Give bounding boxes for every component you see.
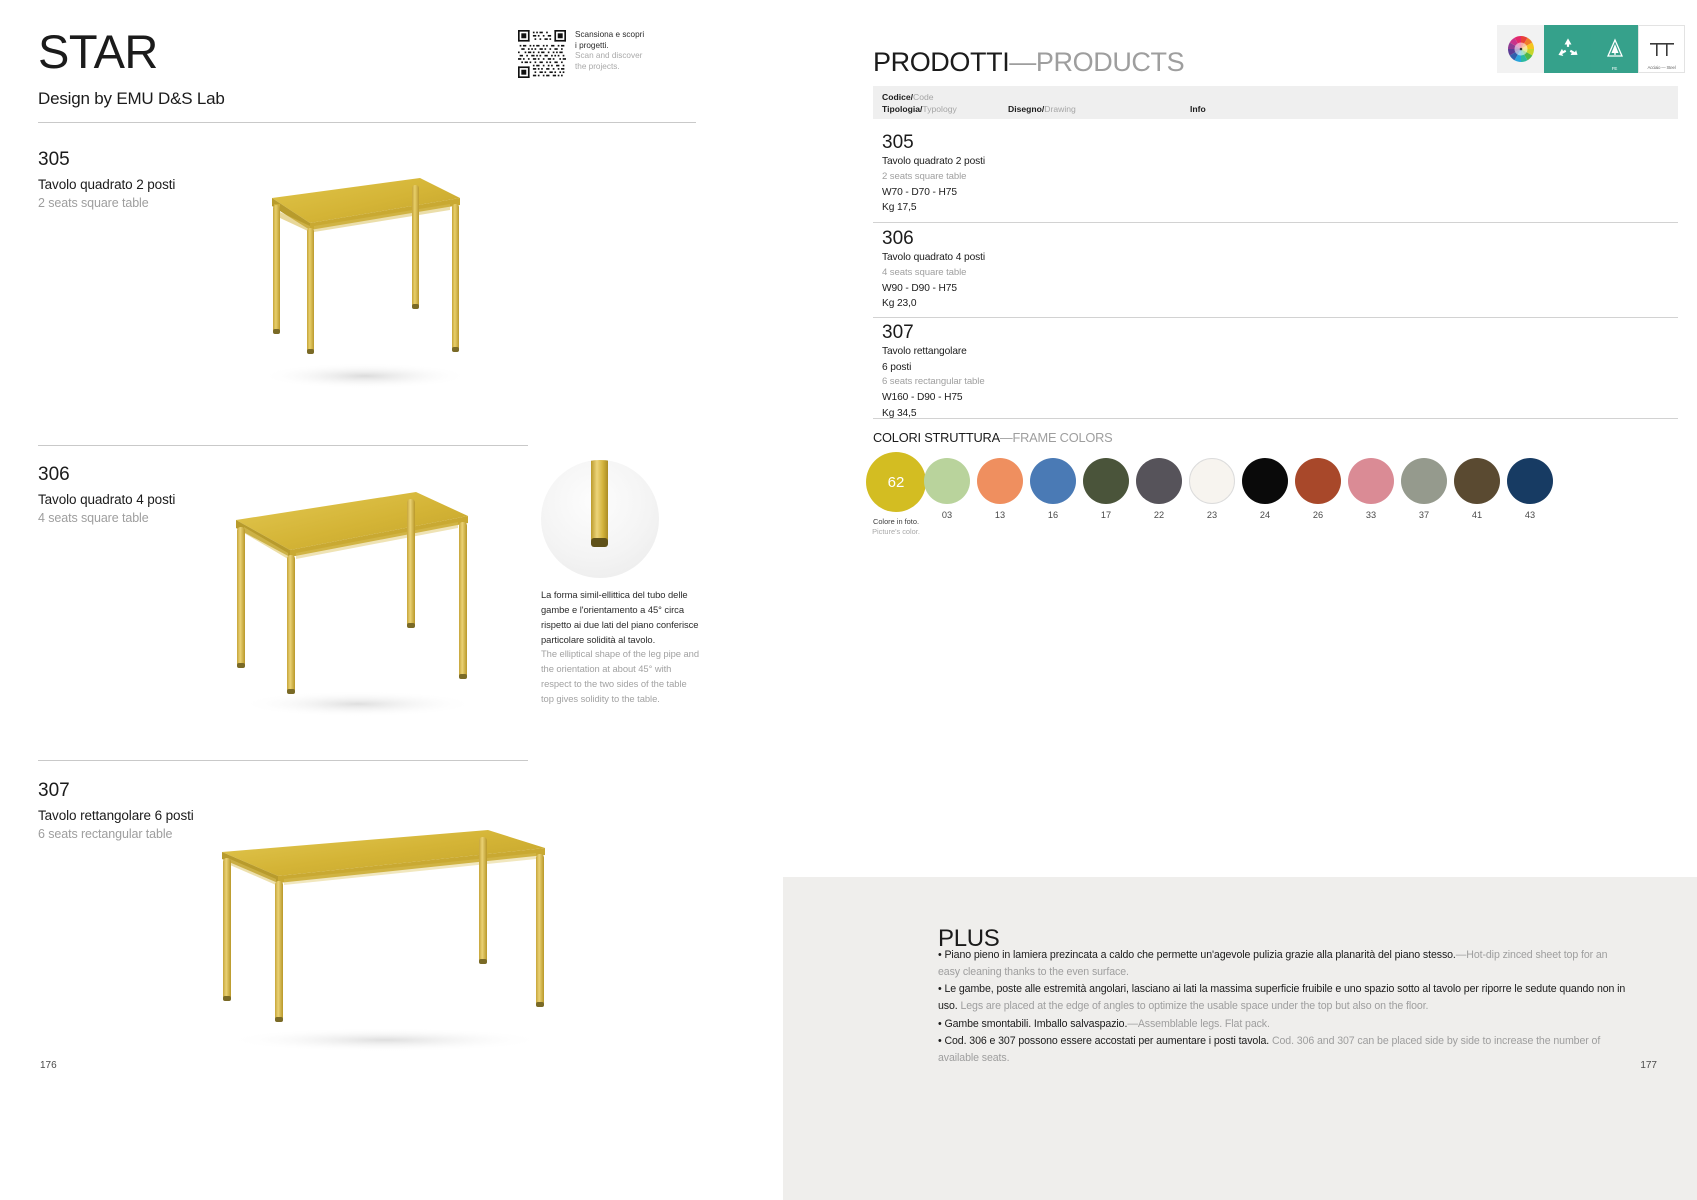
badge-steel: Acciaio — Steel	[1638, 25, 1685, 73]
products-table-header	[873, 86, 1678, 119]
badge-steel-caption: Acciaio — Steel	[1639, 65, 1684, 70]
recycle-icon	[1555, 36, 1581, 62]
table-row-306[interactable]: 306 Tavolo quadrato 4 posti 4 seats squa…	[882, 228, 985, 312]
swatch-number: 16	[1048, 510, 1058, 520]
swatch-dot[interactable]	[1083, 458, 1129, 504]
badge-fsc-caption: FE	[1591, 66, 1638, 71]
swatch-number: 17	[1101, 510, 1111, 520]
th-info-key: Info	[1190, 104, 1206, 114]
th-code-typology: Codice/Code Tipologia/Typology	[882, 91, 957, 116]
product-code: 307	[38, 779, 194, 803]
plus-item-it: • Piano pieno in lamiera prezincata a ca…	[938, 949, 1456, 961]
qr-code-icon[interactable]	[518, 30, 566, 78]
left-product-label-307: 307 Tavolo rettangolare 6 posti 6 seats …	[38, 779, 194, 843]
th-typology-value: Typology	[922, 104, 956, 114]
plus-item: • Piano pieno in lamiera prezincata a ca…	[938, 947, 1628, 981]
qr-caption: Scansiona e scopri i progetti. Scan and …	[575, 30, 655, 78]
th-drawing: Disegno/Drawing	[1008, 103, 1076, 115]
plus-item-en: Legs are placed at the edge of angles to…	[960, 1000, 1428, 1012]
swatch-33[interactable]: 33	[1345, 458, 1397, 520]
product-code: 306	[38, 463, 175, 487]
swatch-dot[interactable]	[1348, 458, 1394, 504]
row-code: 307	[882, 322, 985, 344]
th-code-key: Codice/	[882, 92, 913, 102]
row-weight: Kg 17,5	[882, 200, 985, 216]
row-name-en: 4 seats square table	[882, 266, 985, 281]
page-title: STAR	[38, 28, 225, 75]
qr-caption-it-1: Scansiona e scopri	[575, 30, 655, 41]
product-name-it: Tavolo rettangolare 6 posti	[38, 806, 194, 826]
row-name-it: Tavolo quadrato 2 posti	[882, 154, 985, 170]
th-typology-key: Tipologia/	[882, 104, 922, 114]
swatch-03[interactable]: 03	[921, 458, 973, 520]
row-name-en: 6 seats rectangular table	[882, 375, 985, 390]
qr-caption-it-2: i progetti.	[575, 41, 655, 52]
swatch-number: 33	[1366, 510, 1376, 520]
plus-item-dash: —	[1456, 949, 1467, 961]
divider-low	[38, 760, 528, 761]
row-divider-2	[873, 317, 1678, 318]
certification-badges: FE Acciaio — Steel	[1497, 25, 1685, 73]
badge-color-wheel	[1497, 25, 1544, 73]
swatch-number: 41	[1472, 510, 1482, 520]
swatch-dot[interactable]	[1401, 458, 1447, 504]
swatch-26[interactable]: 26	[1292, 458, 1344, 520]
fsc-tree-icon	[1603, 37, 1627, 61]
qr-caption-en-2: the projects.	[575, 62, 655, 73]
divider-mid	[38, 445, 528, 446]
plus-item-en: Assemblable legs. Flat pack.	[1138, 1018, 1270, 1030]
swatch-number: 26	[1313, 510, 1323, 520]
product-name-en: 6 seats rectangular table	[38, 825, 194, 843]
product-name-en: 4 seats square table	[38, 509, 175, 527]
product-photo-307	[200, 820, 570, 1055]
swatch-note-en: Picture's color.	[872, 527, 920, 537]
row-weight: Kg 34,5	[882, 406, 985, 422]
swatch-16[interactable]: 16	[1027, 458, 1079, 520]
row-code: 305	[882, 132, 985, 154]
section-title-it: PRODOTTI	[873, 47, 1009, 77]
title-block: STAR Design by EMU D&S Lab	[38, 28, 225, 109]
leg-detail-photo	[541, 460, 659, 578]
leg-detail-caption: La forma simil-ellittica del tubo delle …	[541, 588, 701, 707]
th-drawing-value: Drawing	[1044, 104, 1076, 114]
section-title-en: PRODUCTS	[1036, 47, 1184, 77]
swatch-13[interactable]: 13	[974, 458, 1026, 520]
row-name-it-line2: 6 posti	[882, 360, 985, 376]
badge-fsc: FE	[1591, 25, 1638, 73]
swatch-number: 37	[1419, 510, 1429, 520]
designer-credit: Design by EMU D&S Lab	[38, 89, 225, 109]
swatch-number: 24	[1260, 510, 1270, 520]
divider-top	[38, 122, 696, 123]
swatch-number: 03	[942, 510, 952, 520]
leg-detail-caption-en: The elliptical shape of the leg pipe and…	[541, 647, 701, 706]
th-info: Info	[1190, 103, 1206, 115]
swatch-dot[interactable]	[1136, 458, 1182, 504]
right-page: PRODOTTI—PRODUCTS	[848, 0, 1697, 1200]
th-code-value: Code	[913, 92, 934, 102]
left-product-label-306: 306 Tavolo quadrato 4 posti 4 seats squa…	[38, 463, 175, 527]
swatch-17[interactable]: 17	[1080, 458, 1132, 520]
frame-colors-title-en: FRAME COLORS	[1013, 430, 1113, 445]
swatch-number: 13	[995, 510, 1005, 520]
row-dimensions: W70 - D70 - H75	[882, 185, 985, 201]
page-number-right: 177	[1640, 1060, 1657, 1071]
row-dimensions: W90 - D90 - H75	[882, 281, 985, 297]
frame-colors-row-1: 62 Colore in foto. Picture's color. 0313…	[870, 452, 1557, 537]
qr-block[interactable]: Scansiona e scopri i progetti. Scan and …	[518, 30, 655, 78]
color-wheel-icon	[1506, 34, 1536, 64]
row-weight: Kg 23,0	[882, 296, 985, 312]
product-name-en: 2 seats square table	[38, 194, 175, 212]
swatch-dot[interactable]	[1189, 458, 1235, 504]
row-name-en: 2 seats square table	[882, 170, 985, 185]
swatch-number: 22	[1154, 510, 1164, 520]
row-dimensions: W160 - D90 - H75	[882, 390, 985, 406]
product-photo-306	[218, 480, 488, 720]
product-name-it: Tavolo quadrato 2 posti	[38, 175, 175, 195]
swatch-number: 43	[1525, 510, 1535, 520]
section-title: PRODOTTI—PRODUCTS	[873, 47, 1184, 78]
plus-item: • Gambe smontabili. Imballo salvaspazio.…	[938, 1016, 1628, 1033]
swatch-note-it: Colore in foto.	[872, 517, 920, 527]
frame-colors-list-1: 031316172223242633374143	[921, 458, 1557, 537]
swatch-37[interactable]: 37	[1398, 458, 1450, 520]
table-row-307[interactable]: 307 Tavolo rettangolare 6 posti 6 seats …	[882, 322, 985, 422]
plus-body: • Piano pieno in lamiera prezincata a ca…	[938, 947, 1628, 1067]
row-divider-1	[873, 222, 1678, 223]
swatch-dot[interactable]	[1454, 458, 1500, 504]
th-drawing-key: Disegno/	[1008, 104, 1044, 114]
plus-item-dash: —	[1127, 1018, 1138, 1030]
swatch-dot[interactable]	[1295, 458, 1341, 504]
table-row-305[interactable]: 305 Tavolo quadrato 2 posti 2 seats squa…	[882, 132, 985, 216]
swatch-dot[interactable]	[924, 458, 970, 504]
plus-item: • Cod. 306 e 307 possono essere accostat…	[938, 1033, 1628, 1067]
section-title-dash: —	[1009, 47, 1036, 77]
product-code: 305	[38, 148, 175, 172]
product-photo-305	[240, 168, 490, 393]
plus-item-it: • Gambe smontabili. Imballo salvaspazio.	[938, 1018, 1127, 1030]
row-code: 306	[882, 228, 985, 250]
swatch-number: 62	[888, 474, 905, 491]
left-page: STAR Design by EMU D&S Lab	[0, 0, 848, 1200]
plus-item-it: • Cod. 306 e 307 possono essere accostat…	[938, 1035, 1269, 1047]
swatch-dot[interactable]	[1242, 458, 1288, 504]
row-name-it-line1: Tavolo rettangolare	[882, 344, 985, 360]
swatch-dot[interactable]: 62	[866, 452, 926, 512]
swatch-dot[interactable]	[977, 458, 1023, 504]
left-product-label-305: 305 Tavolo quadrato 2 posti 2 seats squa…	[38, 148, 175, 212]
swatch-number: 23	[1207, 510, 1217, 520]
row-divider-3	[873, 418, 1678, 419]
product-name-it: Tavolo quadrato 4 posti	[38, 490, 175, 510]
plus-item: • Le gambe, poste alle estremità angolar…	[938, 981, 1628, 1015]
swatch-41[interactable]: 41	[1451, 458, 1503, 520]
swatch-22[interactable]: 22	[1133, 458, 1185, 520]
frame-colors-title: COLORI STRUTTURA—FRAME COLORS	[873, 430, 1113, 445]
frame-colors-title-it: COLORI STRUTTURA	[873, 430, 1000, 445]
swatch-note: Colore in foto. Picture's color.	[872, 517, 920, 537]
swatch-dot[interactable]	[1030, 458, 1076, 504]
qr-caption-en-1: Scan and discover	[575, 51, 655, 62]
frame-colors-title-dash: —	[1000, 430, 1013, 445]
row-name-it: Tavolo quadrato 4 posti	[882, 250, 985, 266]
leg-detail-caption-it: La forma simil-ellittica del tubo delle …	[541, 589, 698, 645]
swatch-main-62[interactable]: 62 Colore in foto. Picture's color.	[870, 452, 922, 537]
steel-icon	[1648, 39, 1676, 59]
swatch-43[interactable]: 43	[1504, 458, 1556, 520]
page-number-left: 176	[40, 1060, 57, 1071]
swatch-24[interactable]: 24	[1239, 458, 1291, 520]
swatch-dot[interactable]	[1507, 458, 1553, 504]
catalog-page-spread: STAR Design by EMU D&S Lab	[0, 0, 1697, 1200]
badge-recycle	[1544, 25, 1591, 73]
swatch-23[interactable]: 23	[1186, 458, 1238, 520]
